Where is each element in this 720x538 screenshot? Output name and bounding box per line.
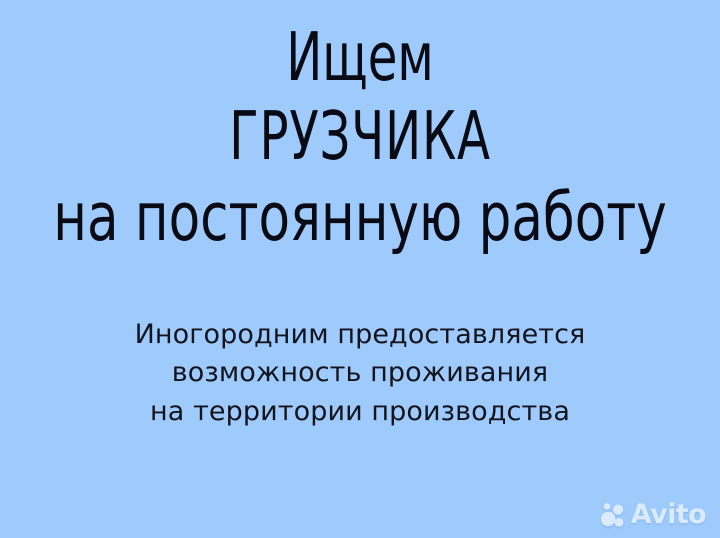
headline-block: Ищем ГРУЗЧИКА на постоянную работу <box>0 24 720 251</box>
avito-wordmark: Avito <box>631 501 706 528</box>
avito-watermark: Avito <box>600 501 706 528</box>
headline-line-2: ГРУЗЧИКА <box>72 103 648 170</box>
headline-line-3: на постоянную работу <box>52 184 668 251</box>
avito-dots-logo-icon <box>600 502 626 528</box>
ad-image-canvas: Ищем ГРУЗЧИКА на постоянную работу Иного… <box>0 0 720 538</box>
body-line-2: возможность проживания <box>0 354 720 392</box>
body-line-1: Иногородним предоставляется <box>0 316 720 354</box>
body-text-block: Иногородним предоставляется возможность … <box>0 316 720 431</box>
headline-line-1: Ищем <box>72 24 648 91</box>
body-line-3: на территории производства <box>0 393 720 431</box>
